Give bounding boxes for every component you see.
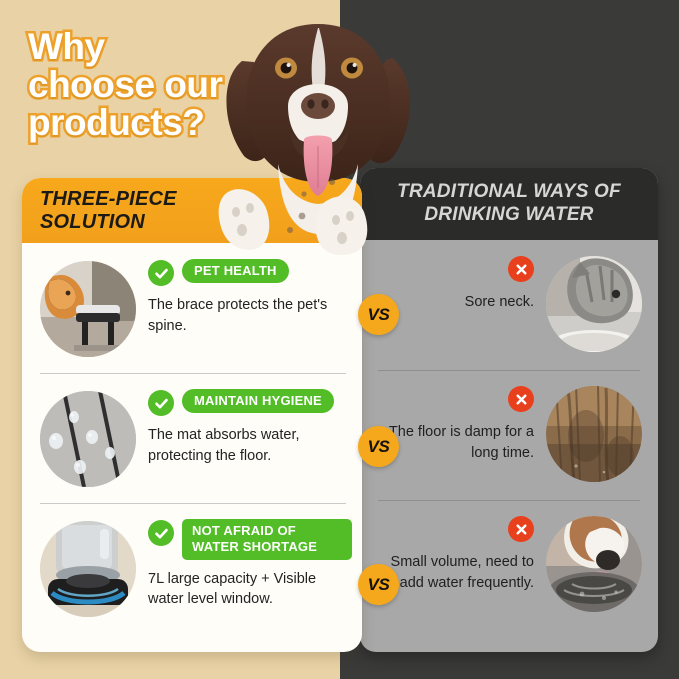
vs-badge-2: VS (358, 426, 399, 467)
traditional-row: The floor is damp for a long time. (360, 370, 658, 500)
vs-badge-3: VS (358, 564, 399, 605)
x-circle-icon (508, 516, 534, 542)
pet-health-body: PET HEALTH The brace protects the pet's … (148, 259, 352, 336)
x-circle-icon (508, 386, 534, 412)
traditional-row: Small volume, need to add water frequent… (360, 500, 658, 640)
solution-row: PET HEALTH The brace protects the pet's … (22, 243, 362, 373)
check-circle-icon (148, 260, 174, 286)
infographic-canvas: Why choose our products? (0, 0, 679, 679)
row-divider (378, 370, 640, 371)
check-circle-icon (148, 520, 174, 546)
water-shortage-badge: NOT AFRAID OF WATER SHORTAGE (182, 519, 352, 560)
pet-health-thumbnail (40, 261, 136, 357)
dog-hero-image (206, 6, 436, 256)
row-divider (40, 373, 346, 374)
check-circle-icon (148, 390, 174, 416)
water-capacity-description: 7L large capacity + Visible water level … (148, 569, 352, 610)
pet-health-badge: PET HEALTH (182, 259, 289, 283)
water-capacity-body: NOT AFRAID OF WATER SHORTAGE 7L large ca… (148, 519, 352, 610)
hygiene-badge: MAINTAIN HYGIENE (182, 389, 334, 413)
small-bowl-thumbnail (546, 516, 642, 612)
water-capacity-thumbnail (40, 521, 136, 617)
pet-health-description: The brace protects the pet's spine. (148, 295, 352, 336)
hygiene-description: The mat absorbs water, protecting the fl… (148, 425, 352, 466)
hygiene-thumbnail (40, 391, 136, 487)
x-circle-icon (508, 256, 534, 282)
solution-row: NOT AFRAID OF WATER SHORTAGE 7L large ca… (22, 503, 362, 643)
vs-badge-1: VS (358, 294, 399, 335)
traditional-rows: Sore neck. (360, 240, 658, 640)
solution-rows: PET HEALTH The brace protects the pet's … (22, 243, 362, 643)
hygiene-body: MAINTAIN HYGIENE The mat absorbs water, … (148, 389, 352, 466)
solution-row: MAINTAIN HYGIENE The mat absorbs water, … (22, 373, 362, 503)
traditional-row: Sore neck. (360, 240, 658, 370)
sore-neck-thumbnail (546, 256, 642, 352)
sore-neck-body: Sore neck. (374, 256, 534, 313)
row-divider (378, 500, 640, 501)
row-divider (40, 503, 346, 504)
damp-floor-thumbnail (546, 386, 642, 482)
